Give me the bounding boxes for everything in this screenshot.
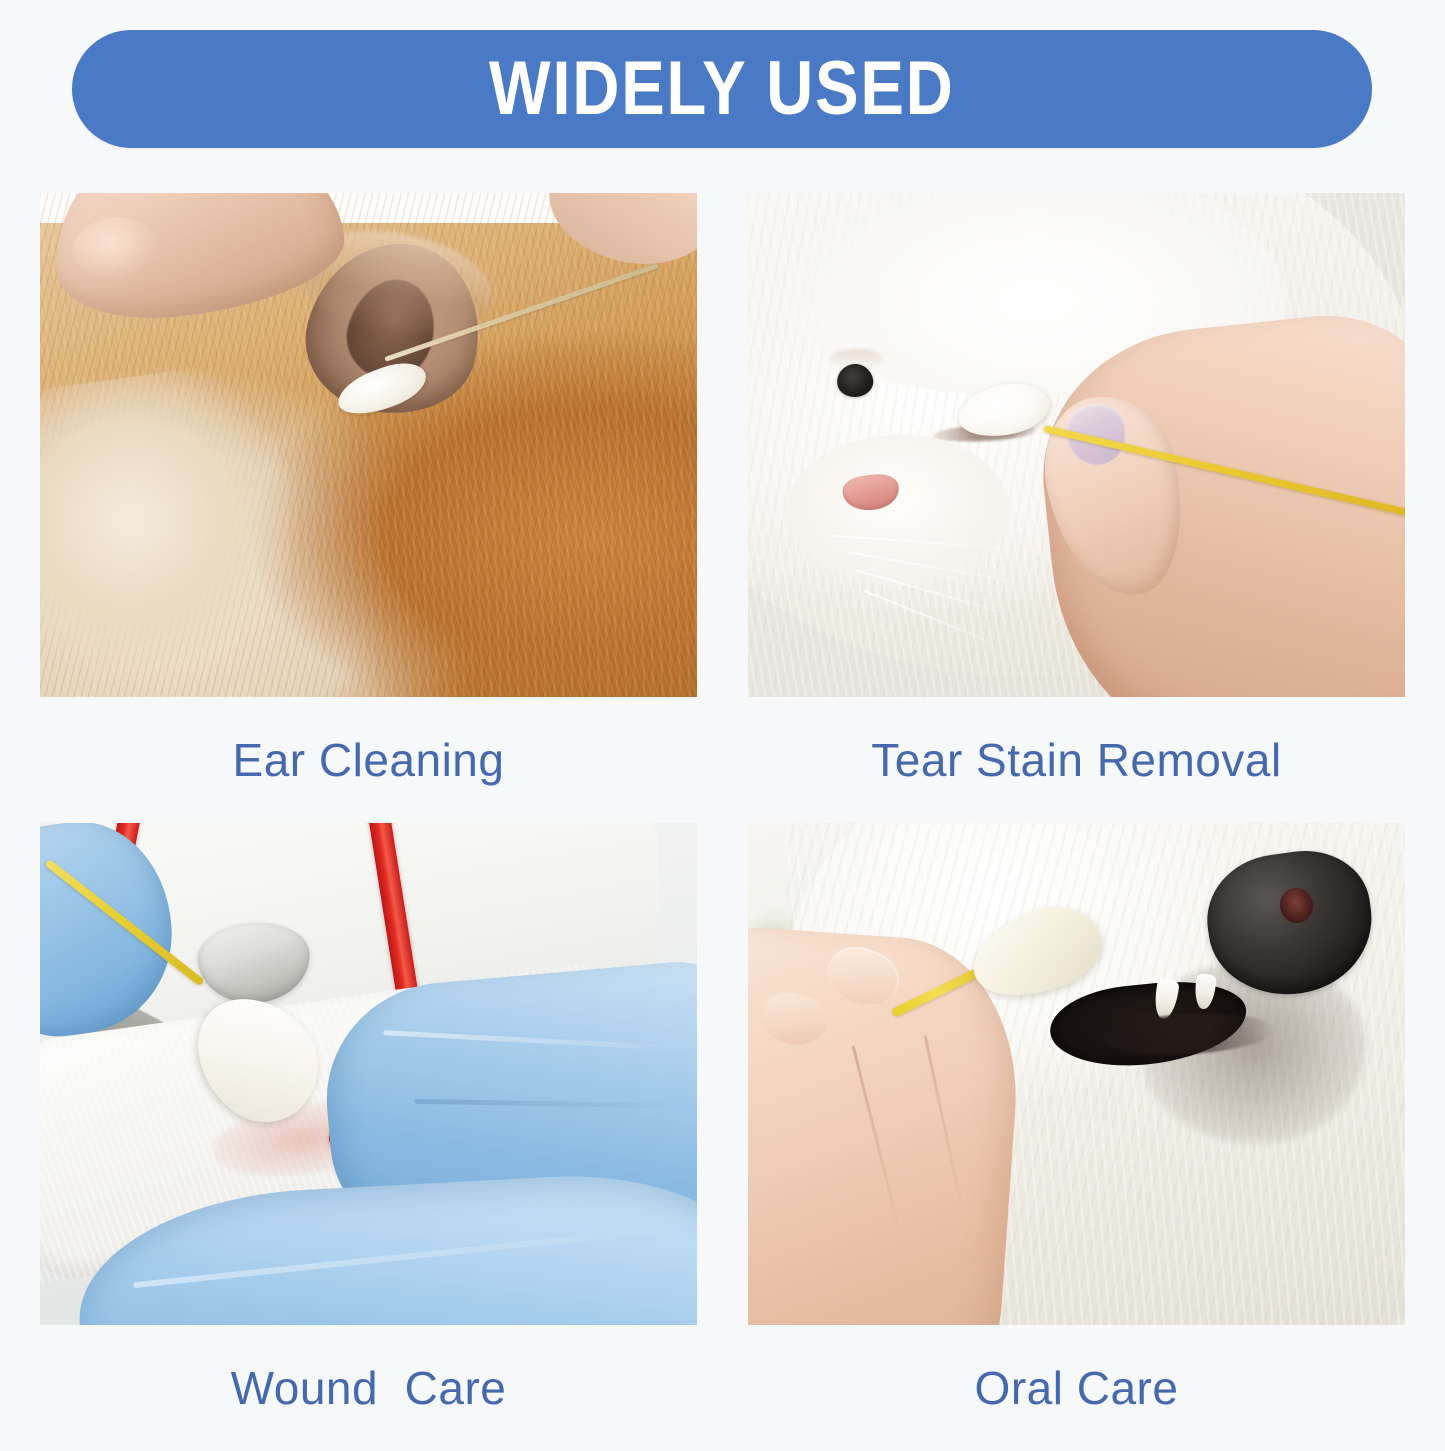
use-case-cell-oral-care: Oral Care (748, 823, 1405, 1325)
photo-wound-care (40, 823, 697, 1325)
photo-oral-care (748, 823, 1405, 1325)
glove-crease (383, 1030, 695, 1051)
infographic-page: WIDELY USED Ear Cleaning (0, 0, 1445, 1445)
cat-muzzle (787, 435, 1010, 586)
caption-oral-care: Oral Care (748, 1325, 1405, 1451)
knuckle-highlight (70, 213, 163, 283)
glove-crease (414, 1099, 692, 1109)
caption-tear-stain-removal: Tear Stain Removal (748, 697, 1405, 823)
use-case-cell-ear-cleaning: Ear Cleaning (40, 193, 697, 697)
caption-ear-cleaning: Ear Cleaning (40, 697, 697, 823)
header-banner: WIDELY USED (72, 30, 1372, 148)
use-case-cell-tear-stain-removal: Tear Stain Removal (748, 193, 1405, 697)
caption-wound-care: Wound Care (40, 1325, 697, 1451)
photo-ear-cleaning (40, 193, 697, 697)
light-fur-patch (40, 355, 339, 697)
photo-tear-stain-removal (748, 193, 1405, 697)
use-case-cell-wound-care: Wound Care (40, 823, 697, 1325)
use-case-grid: Ear Cleaning (40, 193, 1405, 1413)
page-title: WIDELY USED (489, 51, 955, 127)
glove-crease (133, 1226, 677, 1289)
